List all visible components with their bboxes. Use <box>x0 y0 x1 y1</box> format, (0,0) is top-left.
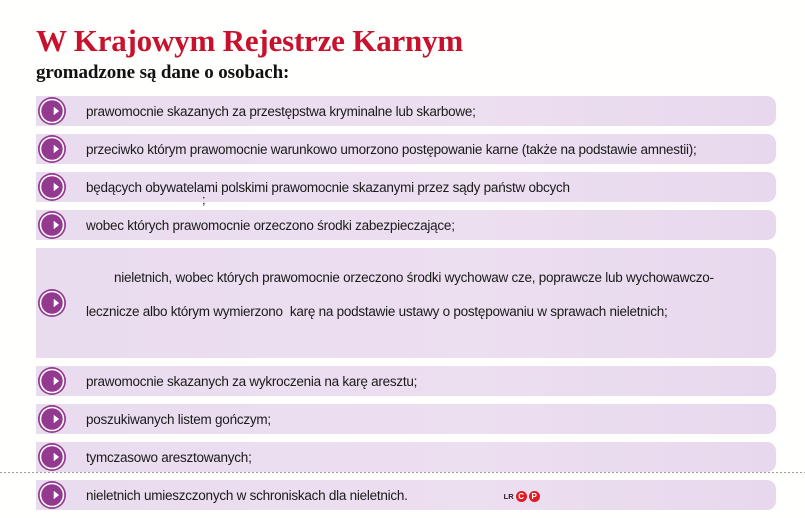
page-subtitle: gromadzone są dane o osobach: <box>36 61 776 84</box>
list-item-text: będących obywatelami polskimi prawomocni… <box>86 179 570 196</box>
list-item: poszukiwanych listem gończym; <box>36 404 776 434</box>
circle-arrow-right-icon <box>37 96 67 126</box>
list-item: będących obywatelami polskimi prawomocni… <box>36 172 776 202</box>
circle-arrow-right-icon <box>37 210 67 240</box>
list-item-text: wobec których prawomocnie orzeczono środ… <box>86 217 455 234</box>
circle-arrow-right-icon <box>37 442 67 472</box>
stray-semicolon-artifact: ; <box>202 195 206 205</box>
rights-label: LR <box>504 492 514 501</box>
list-item: nieletnich umieszczonych w schroniskach … <box>36 480 776 510</box>
list-item: przeciwko którym prawomocnie warunkowo u… <box>36 134 776 164</box>
list-item-text: nieletnich umieszczonych w schroniskach … <box>86 487 408 504</box>
circle-arrow-right-icon <box>37 288 67 318</box>
list-item-text: tymczasowo aresztowanych; <box>86 449 252 466</box>
circle-arrow-right-icon <box>37 172 67 202</box>
page-title: W Krajowym Rejestrze Karnym <box>36 24 776 58</box>
header: W Krajowym Rejestrze Karnym gromadzone s… <box>36 24 776 84</box>
list-item: prawomocnie skazanych za przestępstwa kr… <box>36 96 776 126</box>
list-item-text: poszukiwanych listem gończym; <box>86 411 271 428</box>
fact-list: prawomocnie skazanych za przestępstwa kr… <box>36 96 776 518</box>
circle-arrow-right-icon <box>37 480 67 510</box>
list-item: tymczasowo aresztowanych; <box>36 442 776 472</box>
circle-arrow-right-icon <box>37 404 67 434</box>
list-item-text: prawomocnie skazanych za przestępstwa kr… <box>86 103 476 120</box>
circle-arrow-right-icon <box>37 134 67 164</box>
circle-arrow-right-icon <box>37 366 67 396</box>
infographic-root: W Krajowym Rejestrze Karnym gromadzone s… <box>0 0 805 481</box>
list-item-text-multiline: nieletnich, wobec których prawomocnie or… <box>86 252 714 354</box>
list-item-text-line1: nieletnich, wobec których prawomocnie or… <box>114 270 714 285</box>
copyright-mark-icon: C <box>516 491 527 502</box>
list-item: nieletnich, wobec których prawomocnie or… <box>36 248 776 358</box>
list-item: prawomocnie skazanych za wykroczenia na … <box>36 366 776 396</box>
list-item-text: prawomocnie skazanych za wykroczenia na … <box>86 373 417 390</box>
list-item-text-line2: lecznicze albo którym wymierzono karę na… <box>86 303 714 320</box>
rights-badge: LR C P <box>504 491 540 502</box>
list-item-text: przeciwko którym prawomocnie warunkowo u… <box>86 141 697 158</box>
footer-dotted-rule <box>0 472 805 473</box>
list-item: wobec których prawomocnie orzeczono środ… <box>36 210 776 240</box>
phonogram-mark-icon: P <box>529 491 540 502</box>
